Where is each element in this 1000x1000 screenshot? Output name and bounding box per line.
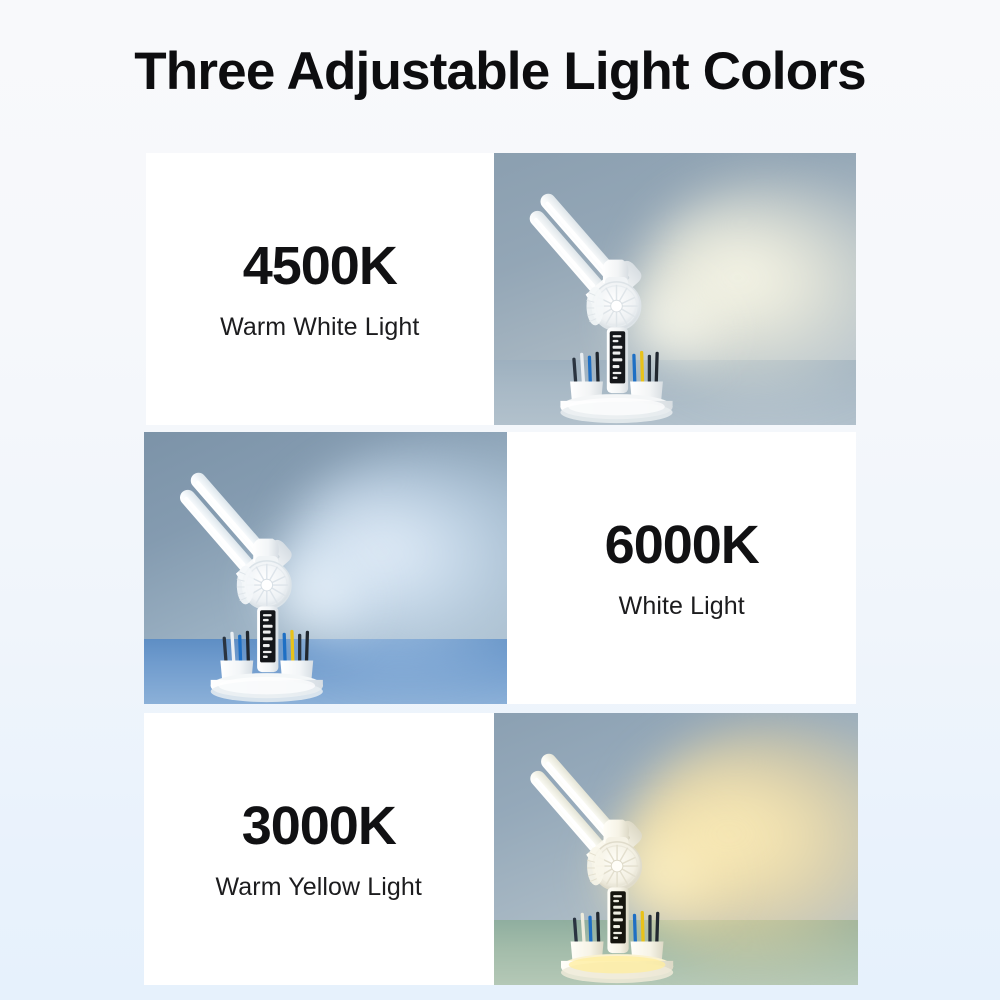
kelvin-value: 6000K [605,515,759,575]
product-photo-6000k [144,432,507,704]
caption-panel-6000k: 6000K White Light [507,432,856,704]
page-title: Three Adjustable Light Colors [0,40,1000,104]
product-photo-4500k [494,153,856,425]
caption-panel-3000k: 3000K Warm Yellow Light [144,713,494,985]
kelvin-value: 4500K [243,236,397,296]
lamp-fan [586,282,640,330]
lamp-clock-display [610,891,625,943]
desk-lamp-illustration [523,721,734,982]
product-photo-3000k [494,713,858,985]
lamp-fan [587,842,641,890]
light-name-label: Warm Yellow Light [216,872,422,902]
lamp-clock-display [609,331,624,383]
desk-lamp-illustration [173,440,384,701]
light-color-row-3000k: 3000K Warm Yellow Light [144,713,858,985]
light-name-label: Warm White Light [220,312,419,342]
kelvin-value: 3000K [242,796,396,856]
light-name-label: White Light [619,591,745,621]
light-color-row-4500k: 4500K Warm White Light [146,153,856,425]
lamp-fan [237,561,291,609]
lamp-clock-display [260,610,275,662]
caption-panel-4500k: 4500K Warm White Light [146,153,494,425]
desk-lamp-illustration [523,161,733,422]
light-color-row-6000k: 6000K White Light [144,432,856,704]
